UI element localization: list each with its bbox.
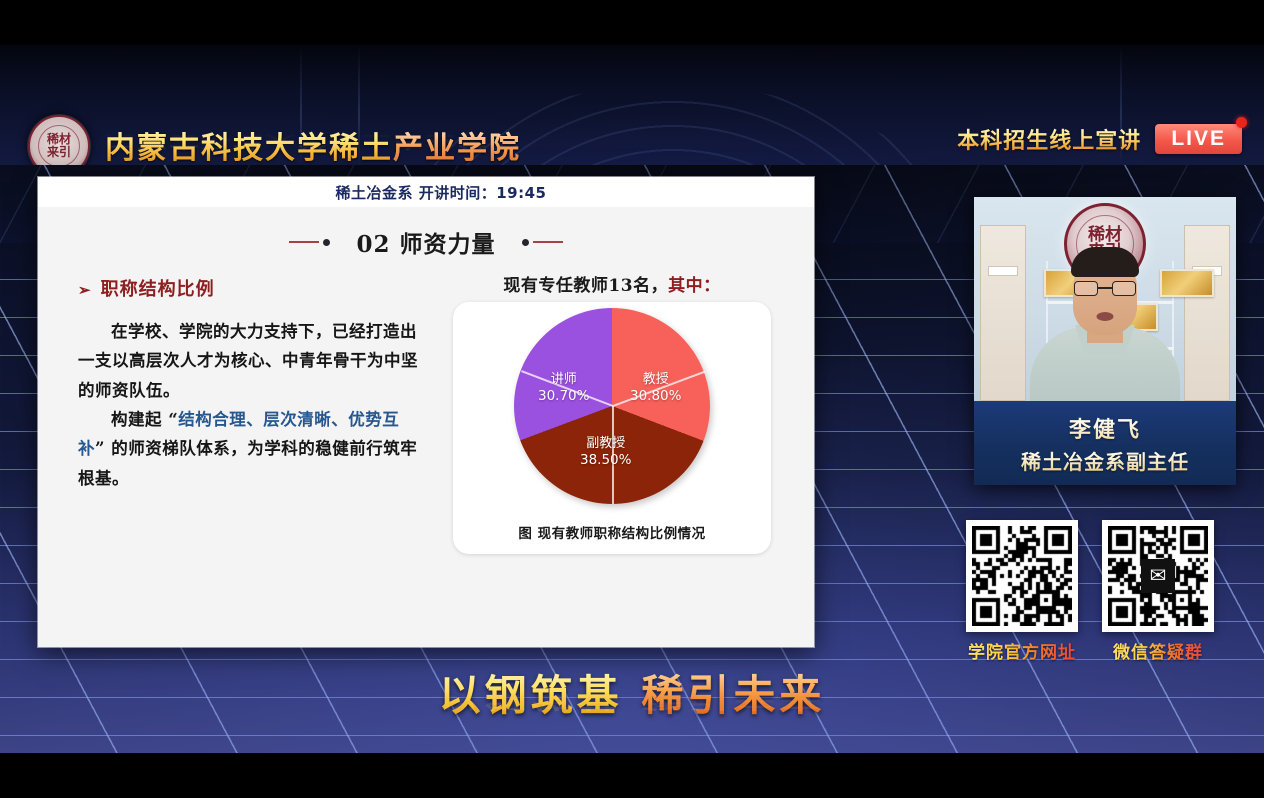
pie-chart: 教授 30.80% 副教授 38.50% 讲师 30.70%	[514, 308, 710, 504]
qr-block-website[interactable]: 学院官方网址	[966, 520, 1078, 663]
slide-chart-column: 现有专任教师13名，其中： 教授 30.80%	[428, 267, 796, 554]
paragraph-1: 在学校、学院的大力支持下，已经打造出一支以高层次人才为核心、中青年骨干为中坚的师…	[78, 317, 418, 405]
paragraph-2: 构建起 “结构合理、层次清晰、优势互补” 的师资梯队体系，为学科的稳健前行筑牢根…	[78, 405, 418, 493]
deco-line-right	[533, 241, 563, 244]
door-plate-left	[988, 266, 1018, 276]
arrow-bullet-icon: ➢	[78, 281, 92, 299]
pie-label-lecturer-value: 30.70%	[538, 388, 589, 405]
slide-title-row: 02 师资力量	[38, 225, 814, 259]
qr-label-wechat: 微信答疑群	[1113, 638, 1203, 663]
section-heading-label: 职称结构比例	[101, 275, 215, 301]
qr-code-website-canvas	[972, 526, 1072, 626]
qr-code-icon[interactable]	[966, 520, 1078, 632]
wechat-logo-icon: ✉	[1141, 559, 1175, 593]
qr-block-wechat[interactable]: ✉ 微信答疑群	[1102, 520, 1214, 663]
section-heading: ➢ 职称结构比例	[78, 275, 418, 301]
paragraph-2-pre: 构建起 “	[111, 410, 178, 429]
presenter-glasses	[1074, 281, 1136, 297]
chart-heading-plain: 现有专任教师13名，	[503, 276, 668, 296]
slide-columns: ➢ 职称结构比例 在学校、学院的大力支持下，已经打造出一支以高层次人才为核心、中…	[38, 267, 814, 554]
live-recording-dot-icon	[1236, 117, 1247, 128]
deco-dot-right	[522, 239, 529, 246]
presenter-role: 稀土冶金系副主任	[1021, 446, 1189, 475]
slide-text-column: ➢ 职称结构比例 在学校、学院的大力支持下，已经打造出一支以高层次人才为核心、中…	[56, 267, 428, 554]
presentation-slide[interactable]: 稀土冶金系 开讲时间：19:45 02 师资力量 ➢ 职称结构比	[38, 177, 814, 647]
letterbox-top	[0, 0, 1264, 45]
presenter-hair	[1071, 247, 1139, 277]
glasses-lens-left	[1074, 281, 1098, 296]
deco-dot-left	[323, 239, 330, 246]
slide-title: 02 师资力量	[356, 225, 495, 259]
slide-content: 02 师资力量 ➢ 职称结构比例 在学校、学院的大力支持下，已经打造出一支以高层…	[38, 207, 814, 647]
live-badge-label: LIVE	[1171, 127, 1226, 150]
presenter-webcam-feed: 稀材 来引	[974, 197, 1236, 401]
pie-label-professor-name: 教授	[630, 372, 681, 388]
presenter-figure	[1030, 251, 1180, 401]
pie-label-associate-professor: 副教授 38.50%	[580, 436, 631, 469]
letterbox-bottom	[0, 753, 1264, 798]
paragraph-2-post: ” 的师资梯队体系，为学科的稳健前行筑牢根基。	[78, 439, 417, 487]
qr-code-wechat-icon[interactable]: ✉	[1102, 520, 1214, 632]
pie-label-lecturer-name: 讲师	[538, 372, 589, 388]
pie-label-associate-name: 副教授	[580, 436, 631, 452]
header-title: 内蒙古科技大学稀土产业学院	[105, 123, 521, 165]
slide-meta-bar: 稀土冶金系 开讲时间：19:45	[38, 177, 814, 207]
chart-caption: 图 现有教师职称结构比例情况	[453, 522, 771, 542]
header-title-main: 内蒙古科技大学稀土	[105, 131, 393, 165]
presenter-nameplate: 李健飞 稀土冶金系副主任	[974, 401, 1236, 485]
chart-heading-accent: 其中：	[668, 276, 721, 296]
qr-label-website: 学院官方网址	[968, 638, 1076, 663]
live-badge[interactable]: LIVE	[1155, 124, 1242, 155]
slide-title-decoration-right	[522, 239, 563, 246]
slide-title-decoration-left	[289, 239, 330, 246]
glasses-bridge	[1098, 287, 1112, 289]
deco-line-left	[289, 241, 319, 244]
pie-label-associate-value: 38.50%	[580, 452, 631, 469]
presenter-mouth	[1097, 312, 1114, 321]
seal-text-bottom: 来引	[47, 146, 71, 159]
header-right-group: 本科招生线上宣讲 LIVE	[957, 123, 1242, 155]
seal-inner-text: 稀材 来引	[38, 125, 80, 165]
livestream-stage: 稀材 来引 内蒙古科技大学稀土产业学院 内蒙古科技大学稀土产业学院 本科招生线上…	[0, 0, 1264, 798]
header-title-accent: 产业学院	[393, 131, 521, 165]
pie-label-professor-value: 30.80%	[630, 388, 681, 405]
presenter-name: 李健飞	[1069, 412, 1141, 444]
header-band: 稀材 来引 内蒙古科技大学稀土产业学院 内蒙古科技大学稀土产业学院 本科招生线上…	[0, 45, 1264, 165]
pie-label-lecturer: 讲师 30.70%	[538, 372, 589, 405]
chart-heading: 现有专任教师13名，其中：	[428, 271, 796, 296]
webcam-door-right	[1184, 225, 1230, 401]
presenter-video-panel[interactable]: 稀材 来引 李健飞 稀土冶金系副主任	[974, 197, 1236, 485]
slide-meta-text: 稀土冶金系 开讲时间：19:45	[336, 182, 547, 203]
pie-chart-card: 教授 30.80% 副教授 38.50% 讲师 30.70%	[453, 302, 771, 554]
header-subtitle: 本科招生线上宣讲	[957, 123, 1141, 155]
pie-label-professor: 教授 30.80%	[630, 372, 681, 405]
webcam-door-left	[980, 225, 1026, 401]
qr-code-row: 学院官方网址 ✉ 微信答疑群	[966, 520, 1246, 663]
glasses-lens-right	[1112, 281, 1136, 296]
